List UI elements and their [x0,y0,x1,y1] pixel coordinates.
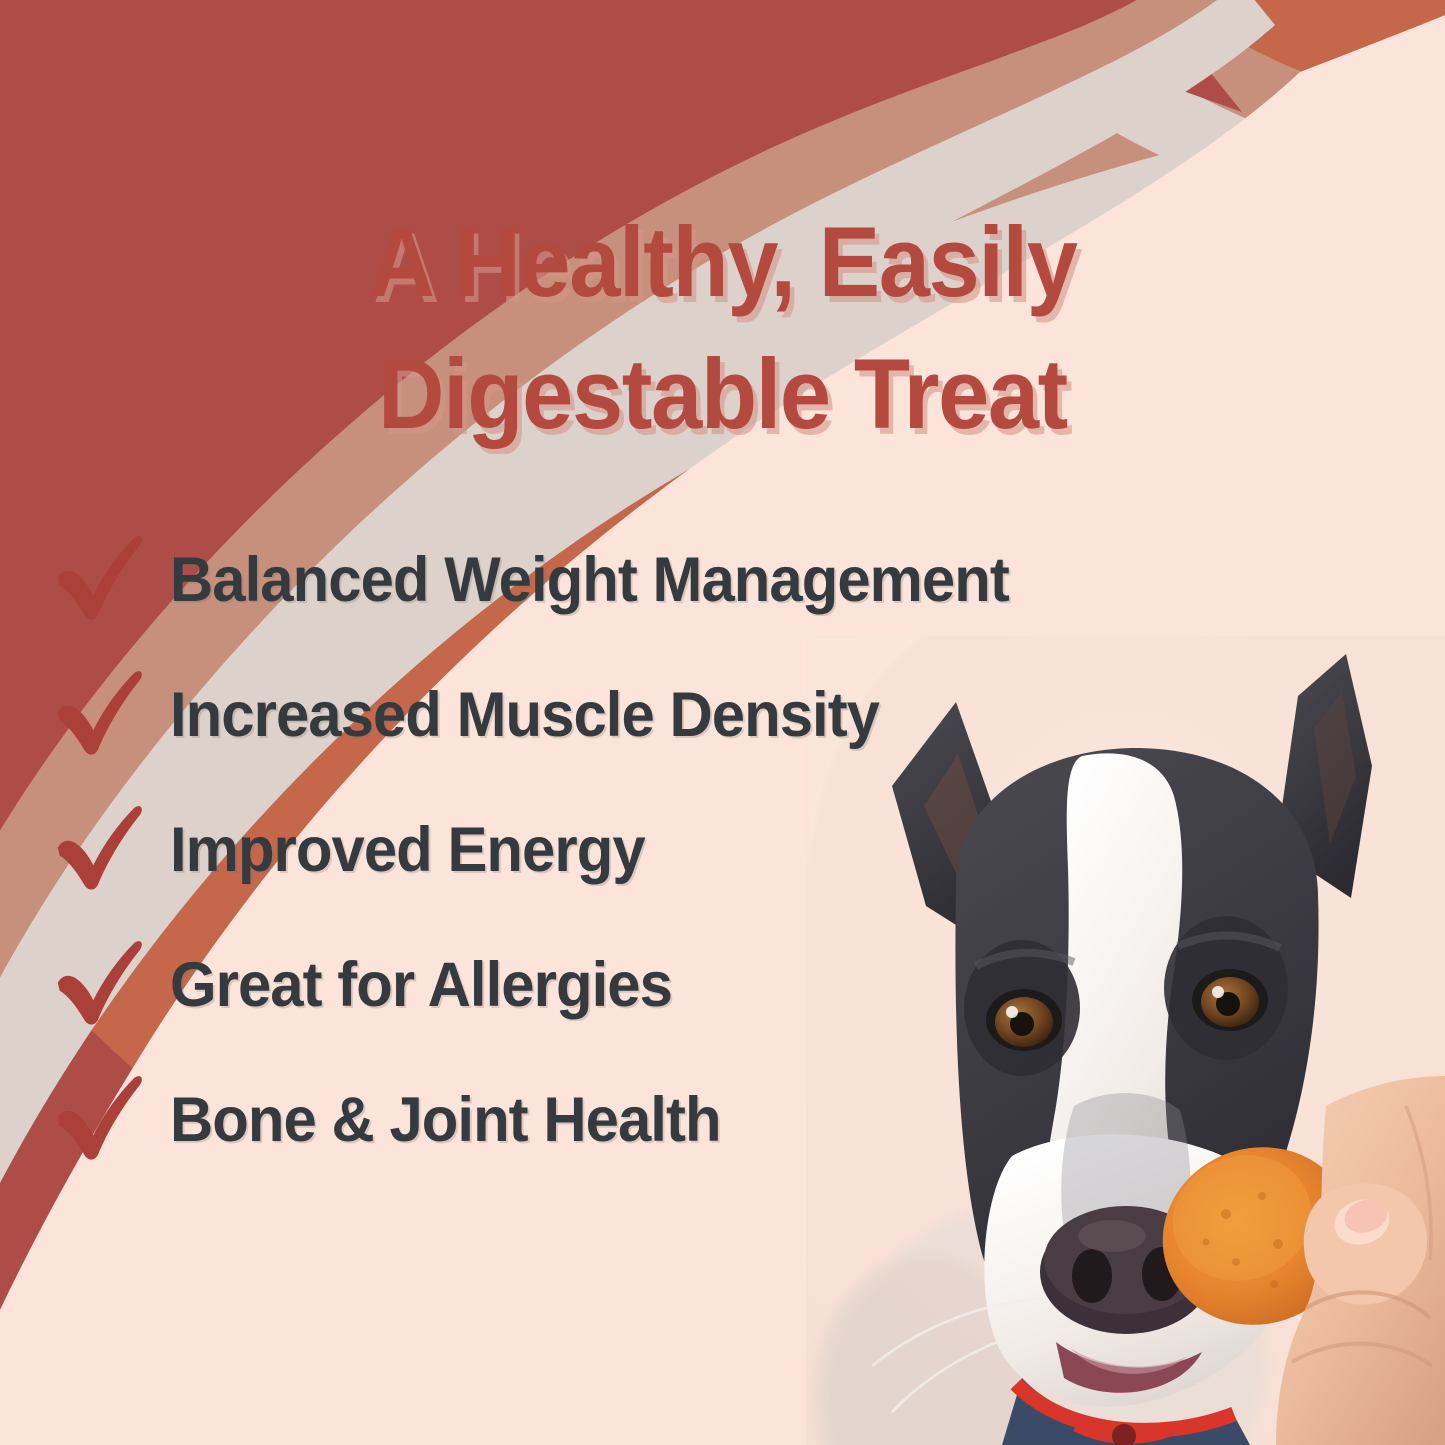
benefit-item: Increased Muscle Density [52,659,1342,771]
checkmark-icon [52,663,148,759]
headline-line-1: A Healthy, Easily [162,196,1283,328]
benefit-item: Great for Allergies [52,929,1342,1041]
benefit-item: Improved Energy [52,794,1342,906]
benefits-list: Balanced Weight Management Increased Mus… [52,524,1342,1176]
checkmark-icon [52,1068,148,1164]
benefit-label: Improved Energy [170,819,645,882]
headline-line-2: Digestable Treat [162,328,1283,460]
checkmark-icon [52,933,148,1029]
benefit-label: Great for Allergies [170,954,672,1017]
benefit-label: Increased Muscle Density [170,684,879,747]
checkmark-icon [52,528,148,624]
checkmark-icon [52,798,148,894]
benefit-label: Balanced Weight Management [170,549,1009,612]
benefit-label: Bone & Joint Health [170,1089,721,1152]
benefit-item: Bone & Joint Health [52,1064,1342,1176]
product-benefits-infographic: A Healthy, Easily Digestable Treat [0,0,1445,1445]
benefit-item: Balanced Weight Management [52,524,1342,636]
headline: A Healthy, Easily Digestable Treat [51,196,1395,459]
